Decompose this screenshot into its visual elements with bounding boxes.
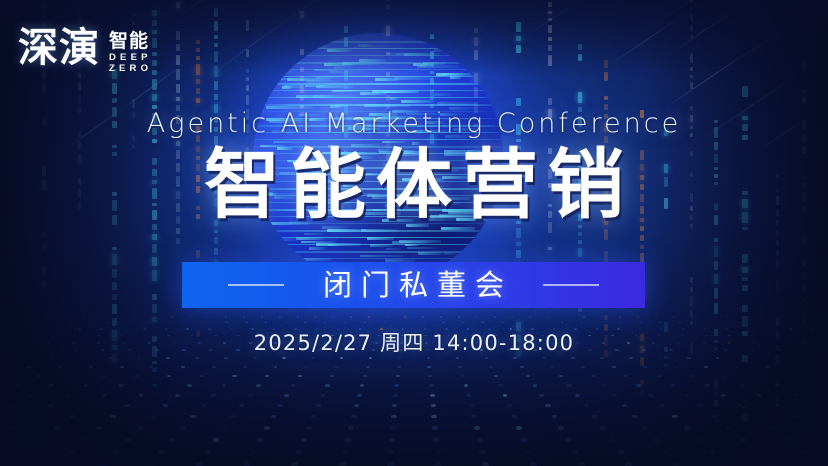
floor-dot (22, 357, 26, 359)
floor-dot (298, 375, 302, 378)
floor-dot (672, 415, 678, 418)
banner-label: 闭门私董会 (314, 268, 513, 302)
floor-dot (525, 450, 532, 454)
floor-dot (67, 450, 74, 454)
floor-dot (640, 322, 642, 323)
floor-dot (529, 316, 531, 317)
floor-dot (325, 384, 330, 387)
floor-dot (625, 462, 632, 466)
floor-dot (291, 462, 298, 466)
floor-dot (705, 384, 710, 387)
floor-dot (758, 322, 760, 323)
floor-dot (541, 322, 543, 323)
floor-dot (520, 366, 524, 368)
floor-dot (709, 450, 716, 454)
floor-dot (663, 311, 665, 312)
floor-dot (212, 366, 216, 368)
floor-dot (69, 375, 73, 378)
floor-dot (440, 316, 442, 317)
floor-dot (99, 311, 101, 312)
floor-dot (277, 404, 282, 407)
floor-dot (721, 462, 728, 466)
floor-dot (51, 357, 55, 359)
floor-dot (83, 311, 85, 312)
floor-dot (153, 316, 155, 317)
floor-dot (106, 307, 108, 308)
floor-dot (392, 404, 397, 407)
floor-dot (816, 462, 823, 466)
floor-dot (110, 415, 116, 418)
floor-dot (461, 375, 465, 378)
floor-dot (558, 426, 564, 430)
floor-dot (311, 357, 315, 359)
floor-dot (518, 311, 520, 312)
floor-dot (735, 366, 739, 368)
floor-dot (591, 375, 595, 378)
floor-dot (655, 316, 657, 317)
floor-dot (489, 366, 493, 368)
floor-dot (612, 394, 617, 397)
floor-dot (389, 311, 391, 312)
floor-dot (366, 366, 370, 368)
floor-dot (350, 316, 352, 317)
floor-dot (486, 311, 488, 312)
floor-dot (232, 375, 236, 378)
logo-brand-cn-sub: 智能 (109, 30, 149, 52)
floor-dot (36, 375, 40, 378)
floor-dot (699, 322, 701, 323)
floor-dot (391, 415, 397, 418)
floor-dot (330, 375, 334, 378)
floor-dot (632, 415, 638, 418)
floor-dot (335, 366, 339, 368)
banner-dash-right (543, 284, 599, 286)
floor-dot (138, 426, 144, 430)
floor-dot (394, 384, 399, 387)
floor-dot (521, 438, 527, 442)
light-streak (672, 2, 747, 53)
floor-dot (601, 316, 603, 317)
floor-dot (474, 426, 480, 430)
floor-dot (545, 404, 550, 407)
floor-dot (195, 357, 199, 359)
floor-dot (153, 384, 158, 387)
floor-dot (687, 357, 691, 359)
floor-dot (324, 322, 326, 323)
floor-dot (4, 462, 11, 466)
floor-dot (592, 415, 598, 418)
floor-dot (539, 394, 544, 397)
floor-dot (393, 394, 398, 397)
light-streak (610, 8, 693, 65)
floor-dot (291, 384, 296, 387)
floor-dot (137, 357, 141, 359)
event-poster: 深演 智能 DEEP ZERO Agentic AI Marketing Con… (0, 0, 828, 466)
floor-dot (257, 438, 263, 442)
floor-dot (386, 316, 388, 317)
floor-dot (551, 366, 555, 368)
floor-dot (201, 404, 206, 407)
floor-dot (619, 316, 621, 317)
floor-dot (526, 375, 530, 378)
floor-dot (163, 404, 168, 407)
floor-dot (282, 357, 286, 359)
floor-dot (345, 438, 351, 442)
floor-dot (187, 384, 192, 387)
floor-dot (222, 384, 227, 387)
floor-dot (685, 394, 690, 397)
floor-dot (120, 307, 122, 308)
floor-dot (584, 404, 589, 407)
floor-dot (364, 322, 366, 323)
floor-dot (456, 357, 460, 359)
light-streak (646, 0, 746, 31)
floor-dot (502, 322, 504, 323)
floor-dot (196, 462, 203, 466)
floor-dot (811, 426, 817, 430)
floor-dot (647, 311, 649, 312)
floor-dot (9, 404, 14, 407)
floor-dot (817, 322, 819, 323)
floor-dot (102, 375, 106, 378)
floor-dot (721, 307, 723, 308)
floor-dot (512, 415, 518, 418)
floor-dot (84, 384, 89, 387)
floor-dot (798, 316, 800, 317)
floor-dot (565, 316, 567, 317)
floor-dot (768, 426, 774, 430)
floor-dot (306, 426, 312, 430)
floor-dot (166, 322, 168, 323)
floor-dot (117, 316, 119, 317)
floor-dot (550, 311, 552, 312)
floor-dot (9, 322, 11, 323)
floor-dot (602, 384, 607, 387)
floor-dot (245, 322, 247, 323)
floor-dot (180, 426, 186, 430)
floor-dot (304, 322, 306, 323)
floor-dot (516, 426, 522, 430)
english-title: Agentic AI Marketing Conference (0, 108, 828, 140)
floor-dot (797, 322, 799, 323)
floor-dot (134, 375, 138, 378)
banner-dash-left (228, 284, 284, 286)
floor-dot (37, 438, 43, 442)
floor-dot (276, 311, 278, 312)
floor-dot (683, 303, 685, 304)
floor-dot (494, 375, 498, 378)
floor-dot (368, 316, 370, 317)
light-streak (176, 0, 249, 19)
floor-dot (423, 322, 425, 323)
floor-dot (285, 322, 287, 323)
floor-dot (135, 316, 137, 317)
floor-dot (150, 415, 156, 418)
floor-dot (643, 366, 647, 368)
floor-dot (134, 307, 136, 308)
logo-en-line-1: DEEP (109, 52, 152, 63)
floor-dot (429, 384, 434, 387)
floor-dot (271, 415, 277, 418)
floor-dot (462, 322, 464, 323)
floor-dot (389, 438, 395, 442)
floor-dot (100, 316, 102, 317)
floor-dot (324, 311, 326, 312)
floor-dot (181, 366, 185, 368)
floor-dot (609, 438, 615, 442)
floor-dot (167, 375, 171, 378)
floor-dot (614, 311, 616, 312)
floor-dot (341, 311, 343, 312)
floor-dot (479, 450, 486, 454)
floor-dot (100, 462, 107, 466)
floor-dot (284, 394, 289, 397)
floor-dot (482, 462, 489, 466)
floor-dot (80, 357, 84, 359)
floor-dot (485, 357, 489, 359)
floor-dot (498, 384, 503, 387)
floor-dot (580, 322, 582, 323)
floor-dot (581, 366, 585, 368)
floor-dot (754, 450, 761, 454)
floor-dot (755, 375, 759, 378)
floor-dot (196, 311, 198, 312)
floor-dot (469, 404, 474, 407)
floor-dot (778, 322, 780, 323)
floor-dot (809, 384, 814, 387)
floor-dot (239, 404, 244, 407)
floor-dot (311, 415, 317, 418)
floor-dot (360, 384, 365, 387)
brand-logo: 深演 智能 DEEP ZERO (18, 28, 152, 74)
floor-dot (738, 322, 740, 323)
floor-dot (466, 394, 471, 397)
floor-dot (342, 450, 349, 454)
floor-dot (740, 438, 746, 442)
floor-dot (477, 438, 483, 442)
floor-dot (762, 316, 764, 317)
floor-dot (403, 322, 405, 323)
floor-dot (211, 394, 216, 397)
floor-dot (148, 307, 150, 308)
floor-dot (670, 303, 672, 304)
floor-dot (243, 366, 247, 368)
floor-dot (206, 322, 208, 323)
floor-dot (46, 316, 48, 317)
floor-dot (28, 322, 30, 323)
floor-dot (189, 316, 191, 317)
floor-dot (11, 426, 17, 430)
floor-dot (793, 415, 799, 418)
floor-dot (787, 375, 791, 378)
floor-dot (757, 394, 762, 397)
floor-dot (567, 384, 572, 387)
floor-dot (511, 316, 513, 317)
floor-dot (357, 394, 362, 397)
floor-dot (228, 311, 230, 312)
floor-dot (68, 322, 70, 323)
floor-dot (49, 384, 54, 387)
floor-dot (253, 357, 257, 359)
floor-dot (373, 311, 375, 312)
light-streak (520, 0, 595, 41)
floor-dot (775, 404, 780, 407)
floor-dot (109, 357, 113, 359)
light-streak (268, 0, 366, 35)
floor-dot (432, 426, 438, 430)
floor-dot (207, 316, 209, 317)
logo-brand-en: DEEP ZERO (109, 52, 152, 74)
floor-dot (225, 322, 227, 323)
floor-dot (396, 375, 400, 378)
floor-dot (674, 366, 678, 368)
floor-dot (15, 384, 20, 387)
floor-dot (177, 307, 179, 308)
floor-dot (737, 404, 742, 407)
floor-dot (759, 311, 761, 312)
floor-dot (431, 415, 437, 418)
floor-dot (706, 307, 708, 308)
floor-dot (256, 384, 261, 387)
floor-dot (124, 404, 129, 407)
floor-dot (719, 322, 721, 323)
floor-dot (721, 394, 726, 397)
floor-dot (533, 384, 538, 387)
floor-dot (67, 311, 69, 312)
floor-dot (390, 426, 396, 430)
floor-dot (797, 366, 801, 368)
floor-dot (774, 357, 778, 359)
floor-dot (583, 316, 585, 317)
floor-dot (547, 316, 549, 317)
logo-brand-cn: 深演 (18, 28, 100, 68)
floor-dot (212, 311, 214, 312)
floor-dot (503, 394, 508, 397)
floor-dot (388, 450, 395, 454)
floor-dot (600, 357, 604, 359)
floor-dot (430, 394, 435, 397)
subtitle-banner: 闭门私董会 (182, 262, 645, 308)
floor-dot (620, 322, 622, 323)
floor-dot (292, 311, 294, 312)
floor-dot (766, 366, 770, 368)
floor-dot (433, 438, 439, 442)
floor-dot (464, 384, 469, 387)
floor-dot (304, 366, 308, 368)
floor-dot (578, 462, 585, 466)
floor-dot (427, 366, 431, 368)
floor-dot (89, 366, 93, 368)
floor-dot (552, 415, 558, 418)
floor-dot (726, 426, 732, 430)
floor-dot (673, 462, 680, 466)
floor-dot (442, 322, 444, 323)
floor-dot (659, 322, 661, 323)
floor-dot (52, 462, 59, 466)
floor-dot (711, 311, 713, 312)
floor-dot (712, 415, 718, 418)
floor-dot (691, 316, 693, 317)
floor-dot (679, 311, 681, 312)
floor-dot (113, 450, 120, 454)
floor-dot (660, 404, 665, 407)
floor-dot (48, 404, 53, 407)
floor-dot (559, 375, 563, 378)
floor-dot (213, 438, 219, 442)
floor-dot (698, 404, 703, 407)
floor-dot (740, 384, 745, 387)
floor-dot (118, 384, 123, 387)
floor-dot (29, 394, 34, 397)
floor-dot (653, 438, 659, 442)
floor-dot (339, 462, 346, 466)
floor-dot (163, 307, 165, 308)
light-streak (600, 0, 725, 7)
floor-dot (600, 426, 606, 430)
floor-dot (86, 404, 91, 407)
floor-dot (405, 311, 407, 312)
floor-dot (453, 311, 455, 312)
floor-dot (279, 316, 281, 317)
floor-dot (243, 316, 245, 317)
floor-dot (147, 322, 149, 323)
floor-dot (147, 311, 149, 312)
floor-dot (571, 450, 578, 454)
floor-dot (722, 375, 726, 378)
floor-dot (369, 357, 373, 359)
floor-dot (630, 311, 632, 312)
event-datetime: 2025/2/27 周四 14:00-18:00 (0, 329, 828, 357)
floor-dot (243, 462, 250, 466)
logo-en-line-2: ZERO (109, 63, 152, 74)
floor-dot (695, 311, 697, 312)
floor-dot (166, 357, 170, 359)
floor-dot (397, 366, 401, 368)
floor-dot (507, 404, 512, 407)
floor-dot (158, 450, 165, 454)
floor-dot (404, 316, 406, 317)
floor-dot (70, 415, 76, 418)
floor-dot (542, 357, 546, 359)
floor-dot (648, 394, 653, 397)
floor-dot (513, 357, 517, 359)
floor-dot (571, 357, 575, 359)
floor-dot (64, 316, 66, 317)
floor-dot (321, 394, 326, 397)
floor-dot (200, 375, 204, 378)
floor-dot (502, 311, 504, 312)
floor-dot (679, 322, 681, 323)
floor-dot (169, 438, 175, 442)
floor-dot (175, 394, 180, 397)
floor-dot (820, 375, 824, 378)
floor-dot (332, 316, 334, 317)
floor-dot (658, 357, 662, 359)
floor-dot (458, 316, 460, 317)
floor-dot (348, 426, 354, 430)
floor-dot (612, 366, 616, 368)
floor-dot (743, 311, 745, 312)
floor-dot (600, 322, 602, 323)
floor-dot (530, 462, 537, 466)
floor-dot (27, 366, 31, 368)
floor-dot (716, 357, 720, 359)
floor-dot (274, 366, 278, 368)
floor-dot (534, 311, 536, 312)
floor-dot (222, 426, 228, 430)
floor-dot (645, 303, 647, 304)
floor-dot (678, 307, 680, 308)
